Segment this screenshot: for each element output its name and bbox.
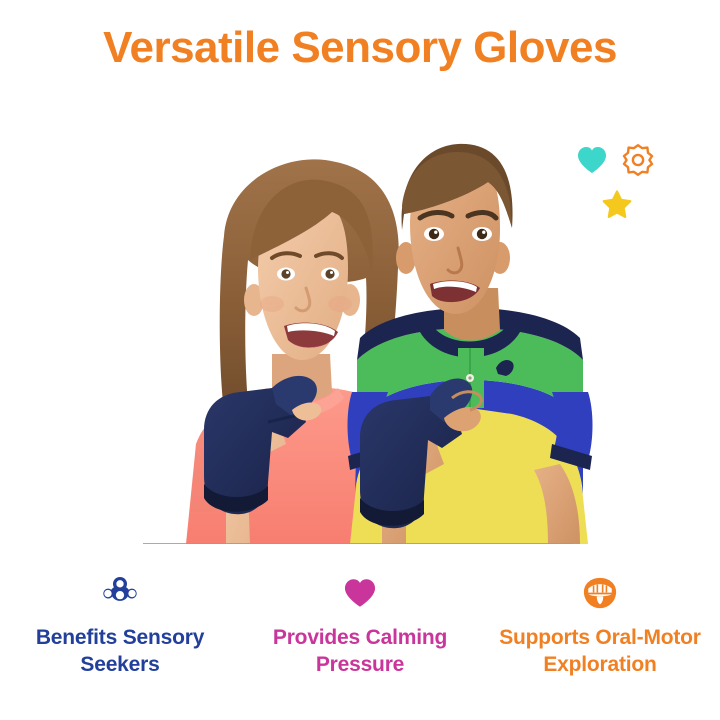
- feature-benefits-row: Benefits Sensory Seekers Provides Calmin…: [0, 572, 720, 702]
- gear-icon: [620, 142, 656, 178]
- product-infographic: Versatile Sensory Gloves: [0, 0, 720, 720]
- mouth-icon: [581, 572, 619, 614]
- feature-benefits-sensory-seekers: Benefits Sensory Seekers: [0, 572, 240, 678]
- heart-icon: [576, 144, 608, 176]
- fidget-spinner-icon: [100, 572, 140, 614]
- feature-label: Provides Calming Pressure: [255, 624, 465, 678]
- feature-label: Supports Oral-Motor Exploration: [488, 624, 712, 678]
- hero-photo: [0, 92, 720, 552]
- star-icon: [602, 189, 632, 219]
- page-title: Versatile Sensory Gloves: [0, 20, 720, 76]
- heart-icon: [343, 572, 377, 614]
- feature-supports-oral-motor-exploration: Supports Oral-Motor Exploration: [480, 572, 720, 678]
- feature-provides-calming-pressure: Provides Calming Pressure: [240, 572, 480, 678]
- hero-illustration: [0, 92, 720, 552]
- photo-baseline-divider: [143, 543, 573, 544]
- feature-label: Benefits Sensory Seekers: [15, 624, 225, 678]
